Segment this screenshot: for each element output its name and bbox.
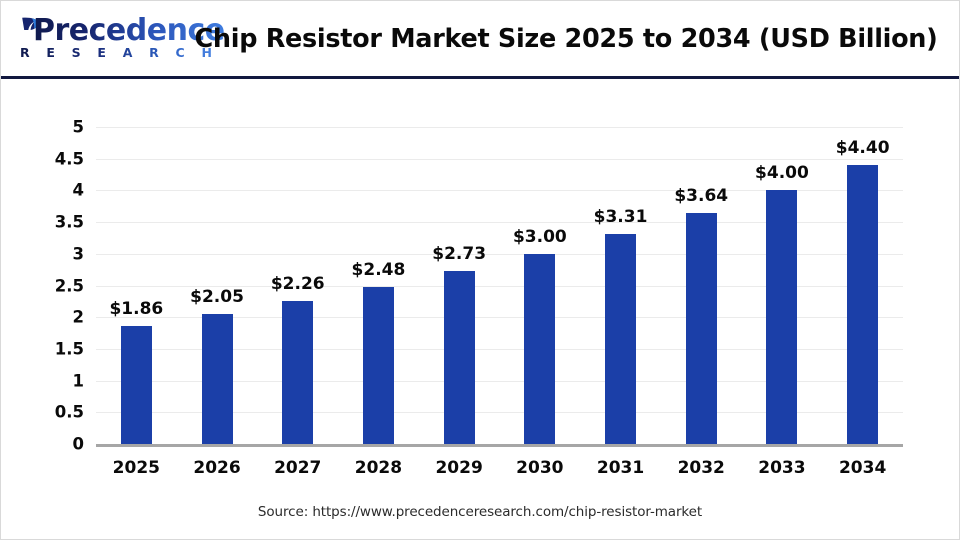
- bar-group-2031: $3.312031: [580, 127, 661, 444]
- bar[interactable]: [686, 213, 717, 444]
- logo-subtitle: R E S E A R C H: [20, 46, 218, 60]
- y-axis-tick-label: 0: [73, 435, 84, 454]
- bar[interactable]: [121, 326, 152, 444]
- x-axis-tick-label: 2032: [678, 458, 725, 478]
- bar-value-label: $2.05: [190, 287, 244, 307]
- y-axis-tick-label: 2: [73, 308, 84, 327]
- bar-value-label: $2.73: [432, 244, 486, 264]
- y-axis-tick-label: 0.5: [55, 403, 84, 422]
- bar-group-2030: $3.002030: [500, 127, 581, 444]
- y-axis-tick-label: 4.5: [55, 149, 84, 168]
- bar[interactable]: [282, 301, 313, 444]
- bar[interactable]: [605, 234, 636, 444]
- bar[interactable]: [766, 190, 797, 444]
- chart-page: Precedence R E S E A R C H Chip Resistor…: [0, 0, 960, 540]
- bar-group-2027: $2.262027: [257, 127, 338, 444]
- x-axis-line: [96, 444, 903, 447]
- bar-group-2034: $4.402034: [822, 127, 903, 444]
- bar-value-label: $1.86: [109, 299, 163, 319]
- y-axis-tick-label: 3: [73, 244, 84, 263]
- bar-group-2025: $1.862025: [96, 127, 177, 444]
- bar-value-label: $3.64: [674, 186, 728, 206]
- page-title: Chip Resistor Market Size 2025 to 2034 (…: [191, 1, 941, 76]
- bar-value-label: $4.40: [836, 138, 890, 158]
- bar[interactable]: [847, 165, 878, 444]
- bar[interactable]: [444, 271, 475, 444]
- y-axis-tick-label: 3.5: [55, 213, 84, 232]
- bar-group-2026: $2.052026: [177, 127, 258, 444]
- bar-group-2033: $4.002033: [742, 127, 823, 444]
- x-axis-tick-label: 2025: [113, 458, 160, 478]
- y-axis-tick-label: 1: [73, 371, 84, 390]
- x-axis-tick-label: 2026: [193, 458, 240, 478]
- y-axis-tick-label: 1.5: [55, 339, 84, 358]
- bar-value-label: $4.00: [755, 163, 809, 183]
- bar-value-label: $3.31: [594, 207, 648, 227]
- bar-value-label: $3.00: [513, 227, 567, 247]
- precedence-research-logo: Precedence R E S E A R C H: [17, 15, 177, 65]
- bar-value-label: $2.48: [352, 260, 406, 280]
- x-axis-tick-label: 2034: [839, 458, 886, 478]
- x-axis-tick-label: 2028: [355, 458, 402, 478]
- bar-group-2028: $2.482028: [338, 127, 419, 444]
- bar[interactable]: [524, 254, 555, 444]
- plot-area: 00.511.522.533.544.55$1.862025$2.052026$…: [96, 127, 903, 444]
- y-axis-tick-label: 4: [73, 181, 84, 200]
- bar-value-label: $2.26: [271, 274, 325, 294]
- x-axis-tick-label: 2030: [516, 458, 563, 478]
- x-axis-tick-label: 2029: [435, 458, 482, 478]
- chart-body: 00.511.522.533.544.55$1.862025$2.052026$…: [1, 79, 959, 539]
- y-axis-tick-label: 2.5: [55, 276, 84, 295]
- x-axis-tick-label: 2027: [274, 458, 321, 478]
- bar-group-2029: $2.732029: [419, 127, 500, 444]
- source-caption: Source: https://www.precedenceresearch.c…: [1, 504, 959, 520]
- bar-group-2032: $3.642032: [661, 127, 742, 444]
- x-axis-tick-label: 2031: [597, 458, 644, 478]
- x-axis-tick-label: 2033: [758, 458, 805, 478]
- chart-header: Precedence R E S E A R C H Chip Resistor…: [1, 1, 959, 79]
- bar[interactable]: [202, 314, 233, 444]
- bar[interactable]: [363, 287, 394, 444]
- y-axis-tick-label: 5: [73, 118, 84, 137]
